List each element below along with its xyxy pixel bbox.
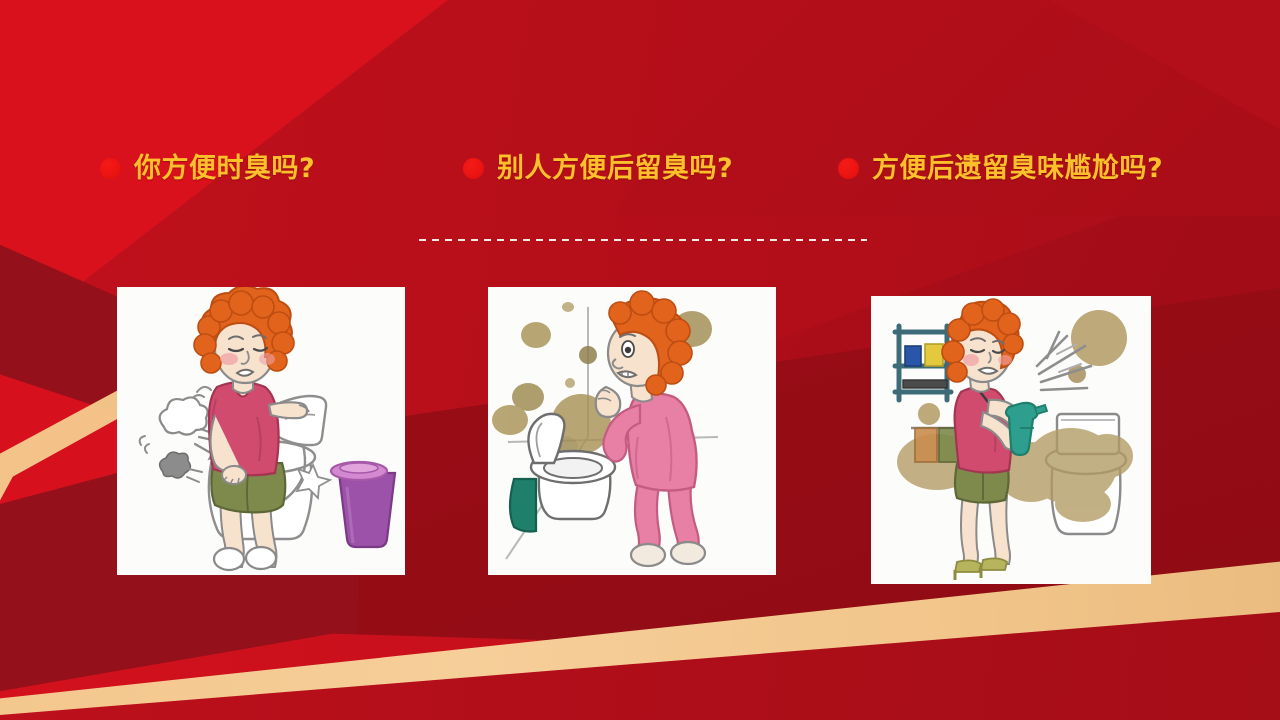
red-dot-icon — [838, 158, 859, 179]
red-dot-icon — [100, 158, 121, 179]
image-panel-3: 卡通女子手持喷雾瓶向马桶喷洒空气清新剂，周围有褐色臭气团 — [871, 296, 1151, 584]
illustration-woman-pinching-nose — [488, 287, 776, 575]
illustration-woman-spraying-freshener — [871, 296, 1151, 584]
illustration-woman-on-toilet — [117, 287, 405, 575]
heading-item-1: 你方便时臭吗? — [100, 155, 315, 182]
heading-text-1: 你方便时臭吗? — [134, 155, 315, 182]
dashed-divider — [419, 239, 867, 241]
red-dot-icon — [463, 158, 484, 179]
slide-canvas: 你方便时臭吗? 别人方便后留臭吗? 方便后遗留臭味尴尬吗? 卡通女子坐在马桶上表… — [0, 0, 1280, 720]
headings-row: 你方便时臭吗? 别人方便后留臭吗? 方便后遗留臭味尴尬吗? — [0, 155, 1280, 201]
heading-text-3: 方便后遗留臭味尴尬吗? — [872, 155, 1163, 182]
heading-item-3: 方便后遗留臭味尴尬吗? — [838, 155, 1163, 182]
image-panel-1: 卡通女子坐在马桶上表情难受，周围有臭味云和紫色垃圾桶 — [117, 287, 405, 575]
heading-text-2: 别人方便后留臭吗? — [497, 155, 733, 182]
image-panel-2: 卡通女子穿粉色睡衣捏鼻子躲避马桶异味，周围有褐色臭气团 — [488, 287, 776, 575]
heading-item-2: 别人方便后留臭吗? — [463, 155, 733, 182]
